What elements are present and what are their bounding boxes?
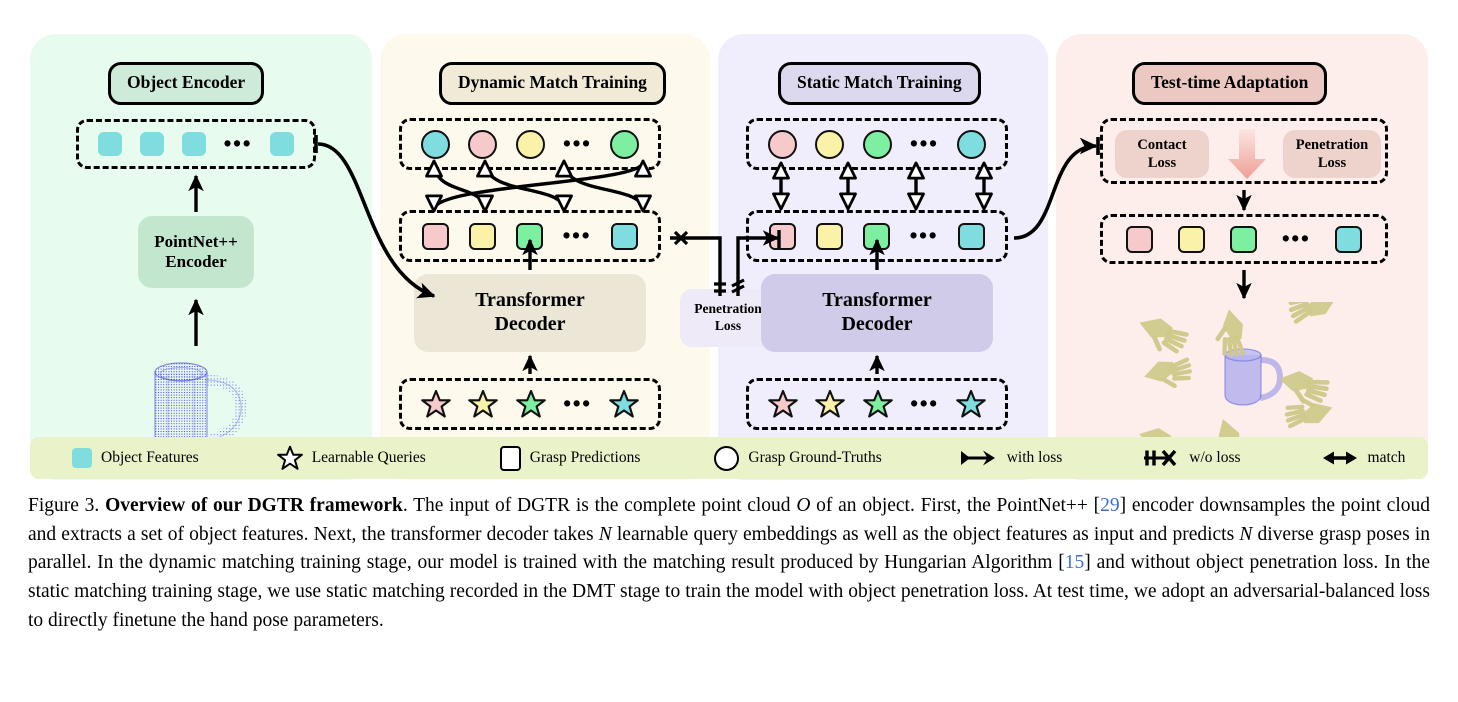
legend-label: w/o loss xyxy=(1189,449,1240,467)
legend-bar: Object Features Learnable Queries Grasp … xyxy=(30,437,1428,479)
framework-diagram: Object Encoder ••• PointNet++ Encoder xyxy=(30,34,1428,480)
symbol-point-cloud: O xyxy=(796,495,810,516)
legend-item-match: match xyxy=(1321,448,1406,468)
star-outline-icon xyxy=(277,445,303,471)
grasp-ground-truth-token xyxy=(468,130,497,159)
object-feature-token xyxy=(182,132,206,156)
legend-item-object-features: Object Features xyxy=(72,448,199,468)
dmt-decoder-line2: Decoder xyxy=(475,313,585,337)
legend-label: Grasp Predictions xyxy=(530,449,641,467)
citation-15: 15 xyxy=(1065,552,1085,573)
panel-title-test-time-adaptation: Test-time Adaptation xyxy=(1132,62,1327,105)
pointnet-encoder-line2: Encoder xyxy=(154,252,238,272)
square-swatch-icon xyxy=(72,448,92,468)
object-feature-token xyxy=(270,132,294,156)
legend-label: with loss xyxy=(1007,449,1063,467)
panel-title-object-encoder: Object Encoder xyxy=(108,62,264,105)
learnable-query-token xyxy=(863,389,893,419)
shared-penetration-loss-line2: Loss xyxy=(694,318,761,335)
caption-text-4: learnable query embeddings as well as th… xyxy=(612,524,1240,545)
legend-item-grasp-ground-truths: Grasp Ground-Truths xyxy=(714,446,881,471)
legend-item-without-loss: w/o loss xyxy=(1140,448,1240,468)
dmt-prediction-group: ••• xyxy=(399,210,661,262)
pointnet-encoder-line1: PointNet++ xyxy=(154,232,238,252)
dmt-ground-truth-group: ••• xyxy=(399,118,661,170)
penetration-loss-line1: Penetration xyxy=(1296,136,1368,154)
symbol-n-2: N xyxy=(1239,524,1252,545)
grasp-ground-truth-token xyxy=(815,130,844,159)
legend-label: Grasp Ground-Truths xyxy=(748,449,881,467)
grasp-prediction-token xyxy=(1178,226,1205,253)
learnable-query-token xyxy=(956,389,986,419)
caption-text-1: . The input of DGTR is the complete poin… xyxy=(403,495,796,516)
dmt-transformer-decoder-module: Transformer Decoder xyxy=(414,274,646,352)
learnable-query-token xyxy=(421,389,451,419)
grasp-prediction-token xyxy=(769,223,796,250)
symbol-n-1: N xyxy=(599,524,612,545)
balance-down-arrow-icon xyxy=(1221,126,1273,182)
grasp-ground-truth-token xyxy=(421,130,450,159)
grasp-prediction-token xyxy=(958,223,985,250)
smt-decoder-line2: Decoder xyxy=(822,313,932,337)
square-outline-icon xyxy=(500,446,521,471)
shared-penetration-loss-line1: Penetration xyxy=(694,301,761,318)
object-features-group: ••• xyxy=(76,119,316,169)
legend-item-grasp-predictions: Grasp Predictions xyxy=(500,446,641,471)
ellipsis: ••• xyxy=(1282,234,1311,243)
grasp-prediction-token xyxy=(516,223,543,250)
smt-prediction-row: ••• xyxy=(749,213,1005,259)
ellipsis: ••• xyxy=(563,139,592,148)
grasp-prediction-token xyxy=(1230,226,1257,253)
legend-label: Object Features xyxy=(101,449,199,467)
legend-label: Learnable Queries xyxy=(312,449,426,467)
dmt-prediction-row: ••• xyxy=(402,213,658,259)
learnable-query-token xyxy=(516,389,546,419)
learnable-query-token xyxy=(468,389,498,419)
learnable-query-token xyxy=(609,389,639,419)
smt-transformer-decoder-module: Transformer Decoder xyxy=(761,274,993,352)
grasp-prediction-token xyxy=(1126,226,1153,253)
panel-title-dynamic-match-training: Dynamic Match Training xyxy=(439,62,666,105)
grasp-prediction-token xyxy=(816,223,843,250)
penetration-loss-box: Penetration Loss xyxy=(1283,130,1381,178)
learnable-query-token xyxy=(815,389,845,419)
object-feature-token xyxy=(98,132,122,156)
penetration-loss-line2: Loss xyxy=(1296,154,1368,172)
grasp-ground-truth-token xyxy=(516,130,545,159)
figure-title: Overview of our DGTR framework xyxy=(105,495,403,516)
ellipsis: ••• xyxy=(910,231,939,240)
contact-loss-box: Contact Loss xyxy=(1115,130,1209,178)
dmt-decoder-line1: Transformer xyxy=(475,289,585,313)
legend-item-with-loss: with loss xyxy=(958,448,1063,468)
tta-prediction-group: ••• xyxy=(1100,214,1388,264)
grasp-ground-truth-token xyxy=(863,130,892,159)
circle-outline-icon xyxy=(714,446,739,471)
panel-title-static-match-training: Static Match Training xyxy=(778,62,981,105)
ellipsis: ••• xyxy=(224,139,253,148)
legend-label: match xyxy=(1368,449,1406,467)
contact-loss-line2: Loss xyxy=(1137,154,1186,172)
grasp-prediction-token xyxy=(422,223,449,250)
ellipsis: ••• xyxy=(910,139,939,148)
figure-root: Object Encoder ••• PointNet++ Encoder xyxy=(0,0,1458,702)
citation-29: 29 xyxy=(1100,495,1120,516)
grasp-prediction-token xyxy=(1335,226,1362,253)
figure-caption: Figure 3. Overview of our DGTR framework… xyxy=(28,492,1430,635)
dmt-query-group: ••• xyxy=(399,378,661,430)
figure-label: Figure 3. xyxy=(28,495,99,516)
smt-decoder-line1: Transformer xyxy=(822,289,932,313)
learnable-query-token xyxy=(768,389,798,419)
legend-item-learnable-queries: Learnable Queries xyxy=(277,445,426,471)
dmt-ground-truth-row: ••• xyxy=(402,121,658,167)
ellipsis: ••• xyxy=(563,399,592,408)
tta-prediction-row: ••• xyxy=(1103,217,1385,261)
object-feature-token xyxy=(140,132,164,156)
tta-loss-group: Contact Loss Penetration Loss xyxy=(1100,118,1388,184)
double-arrow-match-icon xyxy=(1321,448,1359,468)
grasp-ground-truth-token xyxy=(610,130,639,159)
ellipsis: ••• xyxy=(910,399,939,408)
smt-query-group: ••• xyxy=(746,378,1008,430)
smt-ground-truth-row: ••• xyxy=(749,121,1005,167)
grasp-prediction-token xyxy=(863,223,890,250)
smt-prediction-group: ••• xyxy=(746,210,1008,262)
arrow-without-loss-icon xyxy=(1140,448,1180,468)
caption-text-2: of an object. First, the PointNet++ [ xyxy=(810,495,1100,516)
grasp-prediction-token xyxy=(611,223,638,250)
arrow-with-loss-icon xyxy=(958,448,998,468)
smt-ground-truth-group: ••• xyxy=(746,118,1008,170)
grasp-prediction-token xyxy=(469,223,496,250)
ellipsis: ••• xyxy=(563,231,592,240)
grasp-ground-truth-token xyxy=(768,130,797,159)
contact-loss-line1: Contact xyxy=(1137,136,1186,154)
dmt-query-row: ••• xyxy=(402,381,658,427)
pointnet-encoder-module: PointNet++ Encoder xyxy=(138,216,254,288)
object-features-row: ••• xyxy=(79,122,313,166)
smt-query-row: ••• xyxy=(749,381,1005,427)
grasp-ground-truth-token xyxy=(957,130,986,159)
